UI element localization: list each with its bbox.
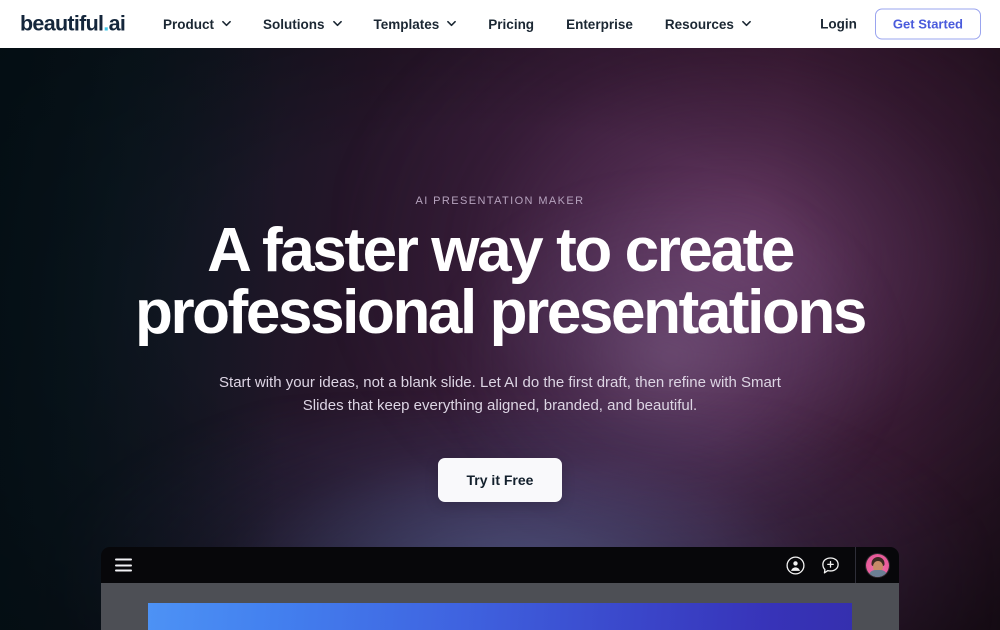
hamburger-bar: [115, 559, 132, 561]
brand-logo[interactable]: beautiful.ai: [20, 12, 125, 37]
nav-item-label: Enterprise: [566, 17, 633, 32]
headline-line-1: A faster way to create: [207, 216, 793, 285]
hero-content: AI PRESENTATION MAKER A faster way to cr…: [0, 48, 1000, 630]
nav-item-pricing[interactable]: Pricing: [472, 0, 550, 48]
nav-item-label: Pricing: [488, 17, 534, 32]
nav-item-templates[interactable]: Templates: [358, 0, 473, 48]
hero-subheading: Start with your ideas, not a blank slide…: [210, 371, 790, 417]
account-circle-icon[interactable]: [785, 555, 806, 576]
nav-item-product[interactable]: Product: [163, 0, 247, 48]
user-avatar[interactable]: [866, 554, 889, 577]
chevron-down-icon: [742, 19, 751, 28]
nav-item-resources[interactable]: Resources: [649, 0, 767, 48]
mockup-slide-thumbnail[interactable]: [148, 603, 852, 630]
nav-item-label: Templates: [374, 17, 440, 32]
hamburger-bar: [115, 570, 132, 572]
brand-name-suffix: ai: [109, 12, 126, 36]
hero-section: AI PRESENTATION MAKER A faster way to cr…: [0, 48, 1000, 630]
top-navigation-bar: beautiful.ai Product Solutions Templates: [0, 0, 1000, 48]
app-mockup: [101, 547, 899, 630]
mockup-canvas: [101, 583, 899, 630]
page-title: A faster way to create professional pres…: [0, 220, 1000, 344]
nav-links: Product Solutions Templates Pricing: [163, 0, 767, 48]
nav-item-label: Resources: [665, 17, 734, 32]
chevron-down-icon: [222, 19, 231, 28]
comment-add-icon[interactable]: [820, 555, 841, 576]
avatar-shoulders: [868, 570, 887, 577]
chevron-down-icon: [333, 19, 342, 28]
login-link[interactable]: Login: [820, 17, 857, 32]
nav-item-label: Solutions: [263, 17, 325, 32]
mockup-toolbar-actions: [785, 547, 899, 583]
hamburger-menu-icon[interactable]: [115, 559, 132, 572]
try-it-free-button[interactable]: Try it Free: [438, 458, 563, 502]
chevron-down-icon: [447, 19, 456, 28]
nav-item-enterprise[interactable]: Enterprise: [550, 0, 649, 48]
hero-eyebrow: AI PRESENTATION MAKER: [0, 195, 1000, 207]
get-started-button[interactable]: Get Started: [875, 9, 981, 40]
mockup-toolbar: [101, 547, 899, 583]
hamburger-bar: [115, 564, 132, 566]
headline-line-2: professional presentations: [0, 282, 1000, 344]
avatar-container[interactable]: [856, 547, 899, 583]
brand-name-main: beautiful: [20, 12, 103, 36]
nav-item-label: Product: [163, 17, 214, 32]
nav-actions: Login Get Started: [820, 9, 981, 40]
page-root: beautiful.ai Product Solutions Templates: [0, 0, 1000, 630]
hero-cta-container: Try it Free: [0, 458, 1000, 502]
nav-item-solutions[interactable]: Solutions: [247, 0, 358, 48]
